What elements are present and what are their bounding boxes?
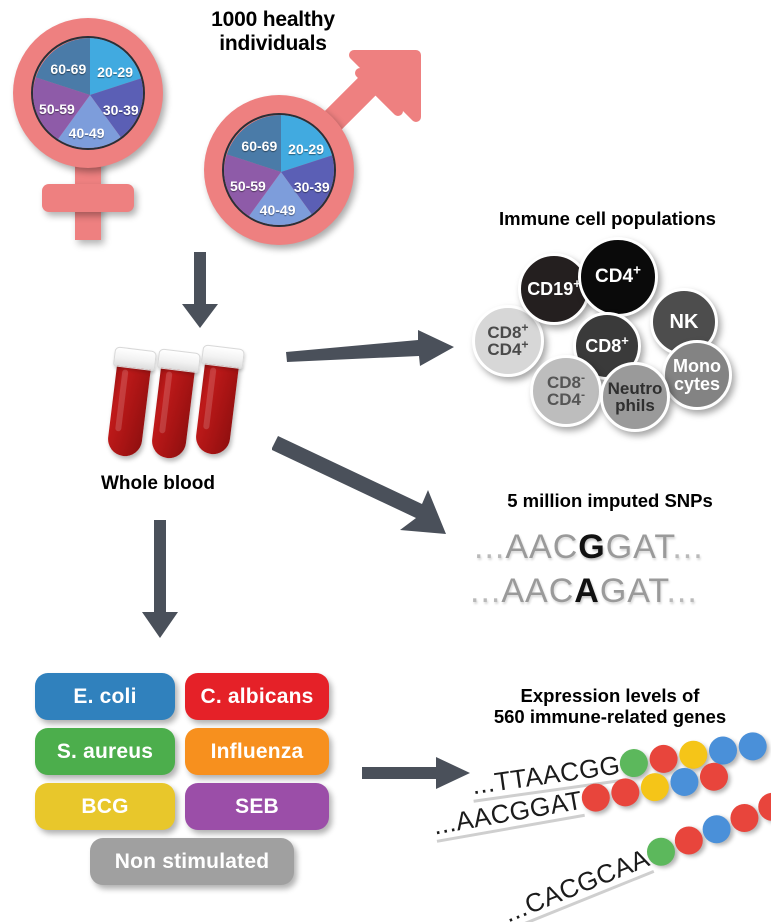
strand-2-bead [668,766,700,798]
figure-canvas: 1000 healthy individuals 20-2930-3940-49… [0,0,771,922]
strand-1-bead [618,747,650,779]
strand-1-bead [737,731,769,763]
strand-2-bead [639,771,671,803]
expression-strands: ...TTAACGG...AACGGAT...CACGCAA [0,0,771,922]
strand-2-bead [698,761,730,793]
strand-1-bead [707,735,739,767]
